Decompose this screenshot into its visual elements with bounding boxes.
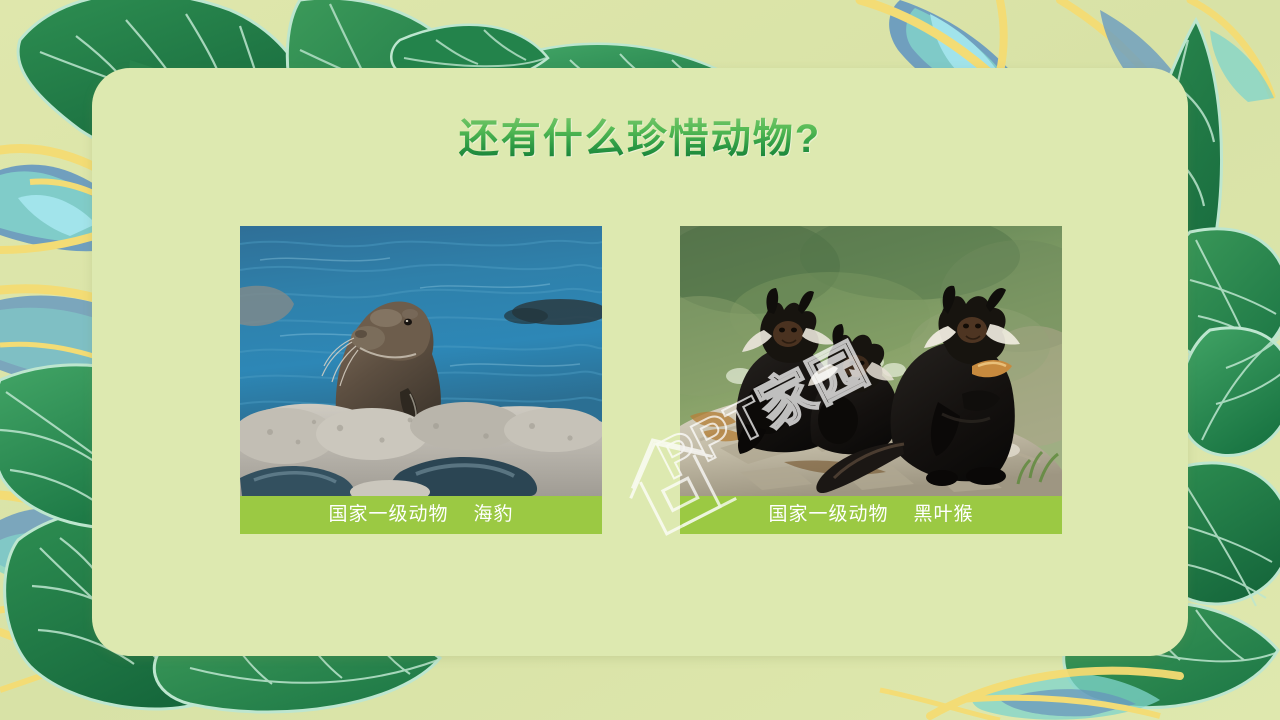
page-title: 还有什么珍惜动物? (92, 116, 1188, 162)
figure-seal[interactable]: 国家一级动物 海豹 (240, 226, 602, 534)
seal-photo[interactable] (240, 226, 602, 496)
langur-caption: 国家一级动物 黑叶猴 (680, 496, 1062, 534)
langur-photo-image (680, 226, 1062, 496)
content-card: 还有什么珍惜动物? (92, 68, 1188, 656)
seal-photo-image (240, 226, 602, 496)
figure-langur[interactable]: 国家一级动物 黑叶猴 (680, 226, 1062, 534)
langur-photo[interactable] (680, 226, 1062, 496)
slide-canvas: 还有什么珍惜动物? (0, 0, 1280, 720)
seal-caption: 国家一级动物 海豹 (240, 496, 602, 534)
